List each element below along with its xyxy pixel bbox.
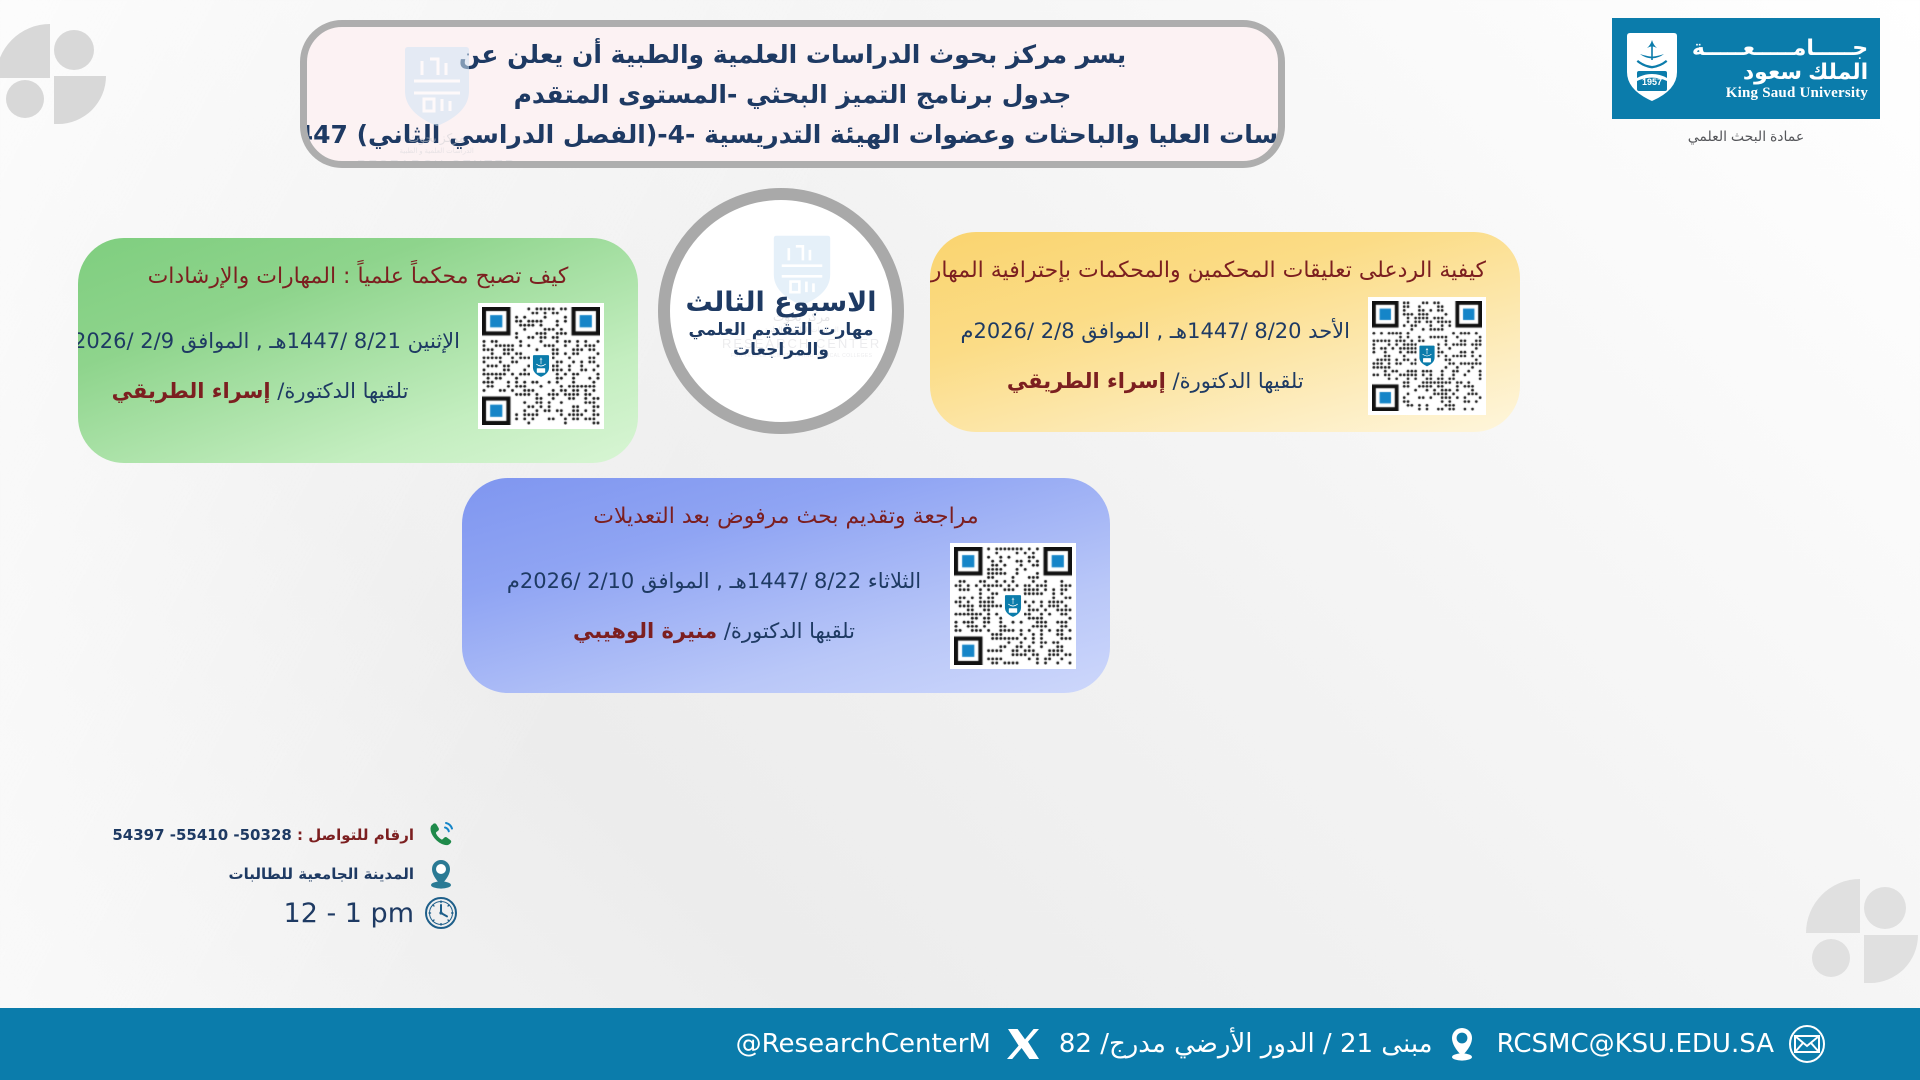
map-pin-icon bbox=[1445, 1025, 1479, 1063]
qr-code-green-session[interactable] bbox=[478, 303, 604, 429]
header-line-1: يسر مركز بحوث الدراسات العلمية والطبية أ… bbox=[459, 40, 1126, 69]
session-card-blue: مراجعة وتقديم بحث مرفوض بعد التعديلات bbox=[462, 478, 1110, 693]
clock-icon bbox=[424, 896, 458, 930]
contact-time-text: 12 - 1 pm bbox=[284, 898, 414, 929]
contact-info-block: ارقام للتواصل : 54397 -55410 -50328 المد… bbox=[128, 818, 458, 935]
presenter-name: إسراء الطريقي bbox=[1007, 369, 1166, 393]
ksu-logo-block: جـــــامـــــعـــــة الملك سعود King Sau… bbox=[1612, 18, 1880, 145]
quarter-circle-shape bbox=[1864, 935, 1918, 983]
session-presenter: تلقيها الدكتورة/ إسراء الطريقي bbox=[78, 379, 460, 403]
footer-x-handle[interactable]: @ResearchCenterM bbox=[736, 1025, 1041, 1063]
presenter-name: منيرة الوهيبي bbox=[573, 619, 717, 643]
quarter-circle-shape bbox=[0, 24, 50, 78]
week-title: الاسبوع الثالث bbox=[670, 287, 892, 318]
footer-email-text: RCSMC@KSU.EDU.SA bbox=[1497, 1029, 1774, 1059]
header-line-2: جدول برنامج التميز البحثي -المستوى المتق… bbox=[514, 80, 1072, 109]
circle-shape bbox=[54, 30, 94, 70]
presenter-prefix: تلقيها الدكتورة/ bbox=[1166, 369, 1304, 393]
footer-x-text: @ResearchCenterM bbox=[736, 1029, 991, 1059]
ksu-arabic-line-1: جـــــامـــــعـــــة bbox=[1692, 37, 1868, 59]
session-date: الثلاثاء 8/22 /1447هـ , الموافق 2/10 /20… bbox=[496, 569, 932, 593]
header-line-3: لطالبات الدراسات العليا والباحثات وعضوات… bbox=[300, 120, 1285, 149]
session-date: الأحد 8/20 /1447هـ , الموافق 2/8 /2026م bbox=[961, 319, 1350, 343]
circle-shape bbox=[1864, 887, 1906, 929]
presenter-prefix: تلقيها الدكتورة/ bbox=[271, 379, 409, 403]
phone-ringing-icon bbox=[424, 818, 458, 852]
decorative-flower-top-left bbox=[0, 8, 116, 118]
footer-email[interactable]: RCSMC@KSU.EDU.SA bbox=[1497, 1023, 1828, 1065]
x-twitter-icon bbox=[1003, 1025, 1041, 1063]
contact-location-text: المدينة الجامعية للطالبات bbox=[229, 865, 414, 883]
session-title: كيفية الردعلى تعليقات المحكمين والمحكمات… bbox=[964, 258, 1486, 283]
ksu-logo-wordmark: جـــــامـــــعـــــة الملك سعود King Sau… bbox=[1692, 37, 1868, 101]
ksu-arabic-line-2: الملك سعود bbox=[1692, 61, 1868, 83]
poster-canvas: جـــــامـــــعـــــة الملك سعود King Sau… bbox=[0, 0, 1920, 1080]
qr-center-shield-icon bbox=[1002, 592, 1024, 620]
circle-shape bbox=[1812, 939, 1850, 977]
ksu-shield-year: 1957 bbox=[1642, 77, 1662, 87]
presenter-name: إسراء الطريقي bbox=[112, 379, 271, 403]
qr-center-shield-icon bbox=[1417, 343, 1438, 370]
session-title: كيف تصبح محكماً علمياً : المهارات والإرش… bbox=[112, 264, 604, 289]
watermark-line-3: RESEARCH CENTER bbox=[357, 157, 516, 168]
contact-time-row: 12 - 1 pm bbox=[128, 896, 458, 930]
qr-center-shield-icon bbox=[530, 352, 552, 380]
envelope-icon bbox=[1786, 1023, 1828, 1065]
footer-address-text: مبنى 21 / الدور الأرضي مدرج/ 82 bbox=[1059, 1029, 1433, 1059]
announcement-header: مركز بحوث الدراسات العلمية و الطبية RESE… bbox=[300, 20, 1285, 168]
presenter-prefix: تلقيها الدكتورة/ bbox=[717, 619, 855, 643]
session-date: الإثنين 8/21 /1447هـ , الموافق 2/9 /2026… bbox=[78, 329, 460, 353]
session-presenter: تلقيها الدكتورة/ منيرة الوهيبي bbox=[496, 619, 932, 643]
map-pin-icon bbox=[424, 857, 458, 891]
ksu-logo-badge: جـــــامـــــعـــــة الملك سعود King Sau… bbox=[1612, 18, 1880, 119]
qr-code-blue-session[interactable] bbox=[950, 543, 1076, 669]
week-badge-circle: مركز بحوث الدراسات العلمية و الطبية RESE… bbox=[658, 188, 904, 434]
contact-location-row: المدينة الجامعية للطالبات bbox=[128, 857, 458, 891]
ksu-english-name: King Saud University bbox=[1692, 86, 1868, 101]
session-presenter: تلقيها الدكتورة/ إسراء الطريقي bbox=[961, 369, 1350, 393]
week-subtitle: مهارت التقديم العلمي والمراجعات bbox=[670, 320, 892, 360]
phones-label: ارقام للتواصل : bbox=[297, 826, 414, 844]
circle-shape bbox=[6, 80, 44, 118]
deanship-label: عمادة البحث العلمي bbox=[1612, 128, 1880, 145]
session-title: مراجعة وتقديم بحث مرفوض بعد التعديلات bbox=[496, 504, 1076, 529]
contact-phones-text: ارقام للتواصل : 54397 -55410 -50328 bbox=[112, 826, 414, 844]
session-card-green: كيف تصبح محكماً علمياً : المهارات والإرش… bbox=[78, 238, 638, 463]
qr-code-yellow-session[interactable] bbox=[1368, 297, 1486, 415]
contact-phones-row: ارقام للتواصل : 54397 -55410 -50328 bbox=[128, 818, 458, 852]
palm-swords-shield-icon: 1957 bbox=[1624, 30, 1680, 109]
quarter-circle-shape bbox=[54, 76, 106, 124]
session-card-yellow: كيفية الردعلى تعليقات المحكمين والمحكمات… bbox=[930, 232, 1520, 432]
decorative-flower-bottom-right bbox=[1806, 865, 1920, 980]
footer-address: مبنى 21 / الدور الأرضي مدرج/ 82 bbox=[1059, 1025, 1479, 1063]
footer-bar: @ResearchCenterM مبنى 21 / الدور الأرضي … bbox=[0, 1008, 1920, 1080]
quarter-circle-shape bbox=[1806, 879, 1860, 933]
phones-value: 54397 -55410 -50328 bbox=[112, 826, 291, 844]
